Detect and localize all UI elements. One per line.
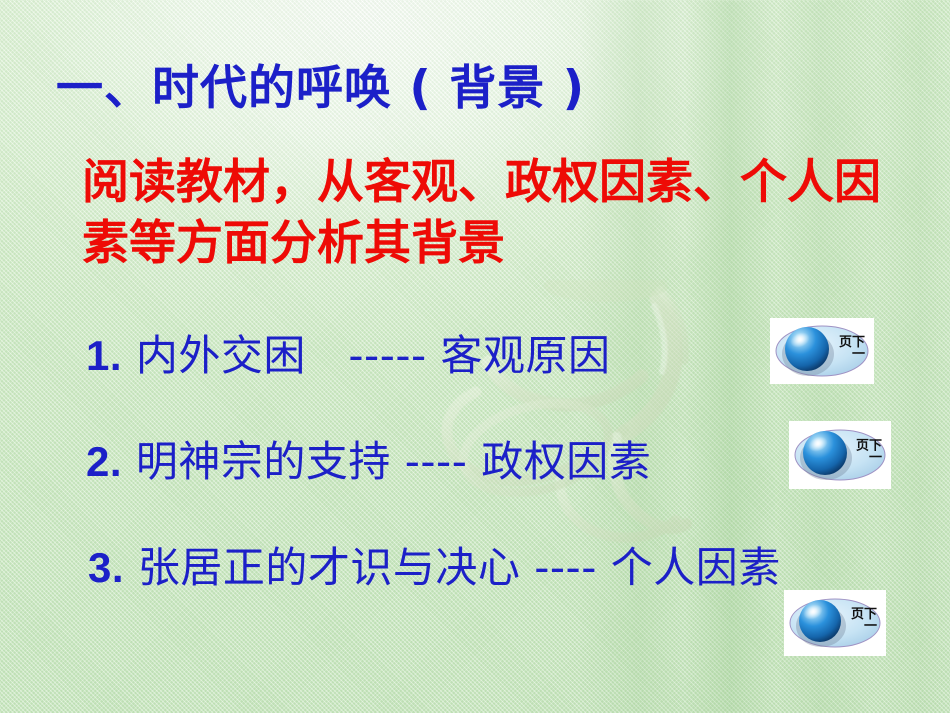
next-page-icon <box>770 318 874 384</box>
list-item: 2. 明神宗的支持 ---- 政权因素 <box>86 432 786 492</box>
next-page-button[interactable]: 下一页 <box>789 421 891 489</box>
list-item-label: 张居正的才识与决心 ---- 个人因素 <box>138 543 781 592</box>
list-item-number: 2. <box>86 438 122 485</box>
presentation-slide: 一、时代的呼唤 ( 背景 ) 阅读教材，从客观、政权因素、个人因素等方面分析其背… <box>0 0 950 713</box>
list-item-number: 3. <box>88 544 124 591</box>
next-page-button[interactable]: 下一页 <box>770 318 874 384</box>
list-item-label: 明神宗的支持 ---- 政权因素 <box>136 437 651 486</box>
next-page-icon <box>789 421 891 489</box>
list-item-number: 1. <box>86 332 122 379</box>
page-title: 一、时代的呼唤 ( 背景 ) <box>56 64 585 115</box>
next-page-icon <box>784 590 886 656</box>
list-item: 3. 张居正的才识与决心 ---- 个人因素 <box>88 538 828 598</box>
next-page-button[interactable]: 下一页 <box>784 590 886 656</box>
list-item: 1. 内外交困 ----- 客观原因 <box>86 326 726 386</box>
instruction-text: 阅读教材，从客观、政权因素、个人因素等方面分析其背景 <box>82 152 892 274</box>
list-item-label: 内外交困 ----- 客观原因 <box>136 331 611 380</box>
